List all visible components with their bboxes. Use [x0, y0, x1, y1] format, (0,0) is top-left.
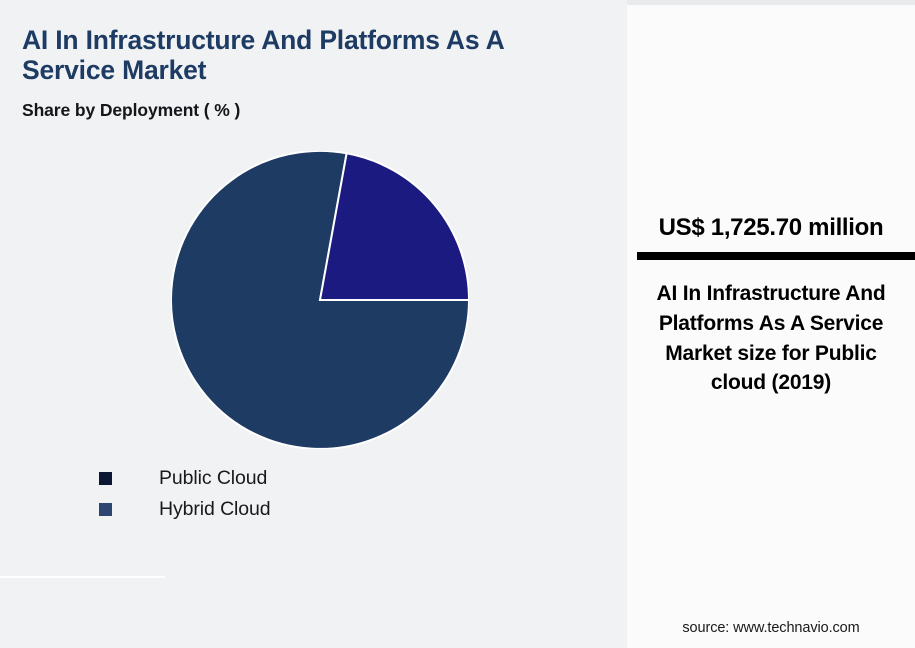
legend-item-label: Hybrid Cloud: [159, 498, 271, 521]
bottom-divider: [0, 576, 165, 578]
pie-chart: [171, 151, 469, 449]
chart-panel: AI In Infrastructure And Platforms As A …: [0, 0, 627, 648]
legend-item-label: Public Cloud: [159, 467, 267, 490]
kpi-value: US$ 1,725.70 million: [627, 214, 915, 242]
legend-item-public-cloud[interactable]: Public Cloud: [99, 463, 271, 494]
kpi-divider: [637, 252, 915, 260]
pie-chart-svg: [171, 151, 469, 449]
infographic-root: AI In Infrastructure And Platforms As A …: [0, 0, 915, 648]
source-note: source: www.technavio.com: [627, 620, 915, 636]
legend-swatch-icon: [99, 503, 112, 516]
kpi-caption: AI In Infrastructure And Platforms As A …: [641, 279, 901, 398]
chart-subtitle: Share by Deployment ( % ): [22, 100, 582, 121]
legend-swatch-icon: [99, 472, 112, 485]
chart-legend: Public Cloud Hybrid Cloud: [99, 463, 271, 525]
pie-slice-hybrid-cloud[interactable]: [320, 153, 469, 300]
kpi-panel: US$ 1,725.70 million AI In Infrastructur…: [627, 5, 915, 648]
page-title: AI In Infrastructure And Platforms As A …: [22, 26, 582, 85]
legend-item-hybrid-cloud[interactable]: Hybrid Cloud: [99, 494, 271, 525]
